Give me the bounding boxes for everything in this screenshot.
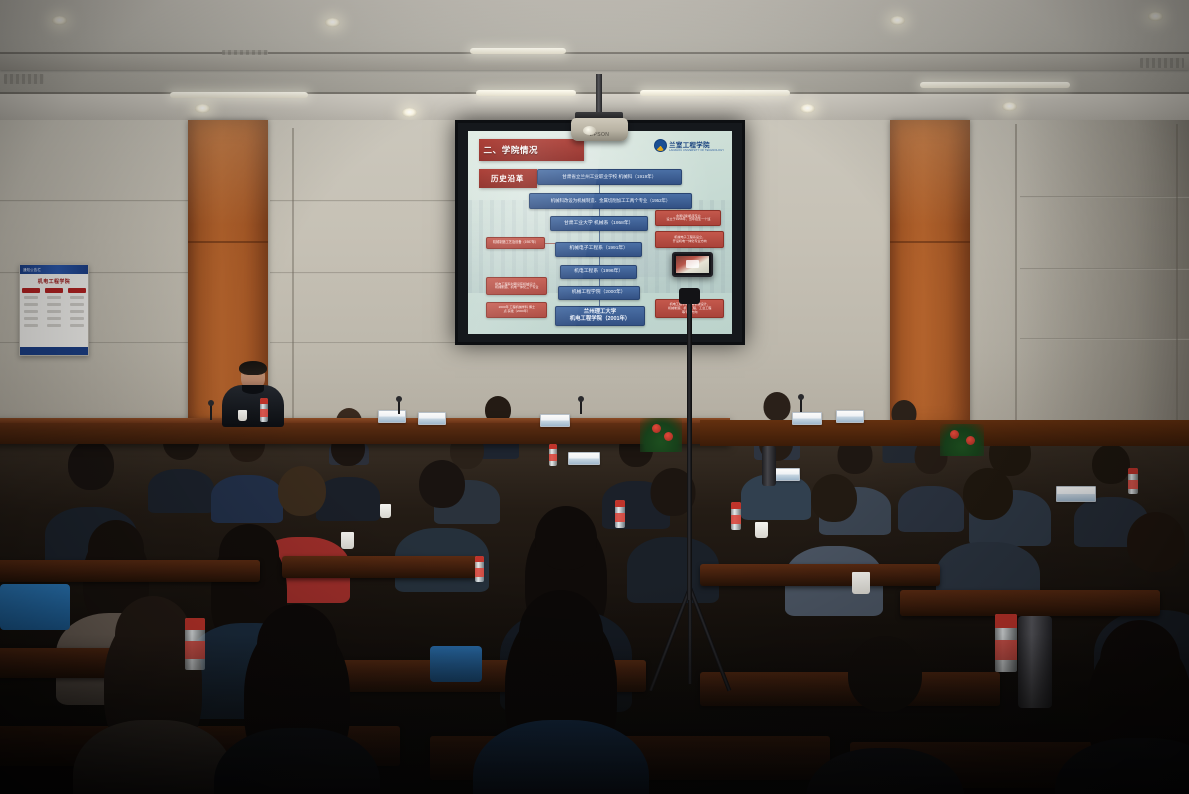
slide-section-title: 二、学院情况 [484,144,539,156]
ceiling-downlight [800,104,815,113]
name-placard [540,414,570,427]
logo-text-block: 兰室工程学院 LANZHOU UNIVERSITY OF TECHNOLOGY [669,139,724,152]
paper-cup [755,522,768,538]
ceiling-vent [1140,58,1184,68]
slide-institution-logo: 兰室工程学院 LANZHOU UNIVERSITY OF TECHNOLOGY [654,139,724,152]
slide-annotation: 金属切削机床专业 设立于1958年，当年招生一个班 [655,210,721,226]
logo-subtitle: LANZHOU UNIVERSITY OF TECHNOLOGY [669,149,724,152]
notice-board-header: 通知公告栏 [20,265,88,274]
ceiling-downlight [402,108,417,117]
slide-annotation: 机械制造工艺及设备（1987年） [486,237,544,249]
conference-hall-photo: 通知公告栏 机电工程学院 [0,0,1189,794]
flow-node-label: 机械电子工程系（1991年） [569,246,628,252]
water-bottle [995,614,1017,672]
slide-annotation-label: 机电工程系时期设有机械设计、 机械制造、机电一体化三个专业 [495,283,538,291]
water-bottle [475,556,484,582]
wall-notice-board[interactable]: 通知公告栏 机电工程学院 [19,264,89,356]
ceiling-strip-light [920,82,1070,88]
decorative-plant [940,424,984,456]
university-emblem-icon [654,139,667,152]
notice-board-columns [20,288,88,331]
projector: EPSON [571,118,628,141]
table-microphone [580,400,582,414]
table-microphone [210,404,212,420]
flow-node-label: 甘肃省立兰州工业职业学校 机械科（1919年） [562,174,656,180]
notice-board-header-text: 通知公告栏 [23,267,41,272]
flow-node-label: 机械工程学院（2000年） [572,290,626,296]
name-placard [378,410,406,423]
tripod-head[interactable] [679,288,700,304]
seat-row [0,560,260,582]
ceiling-strip-light [170,92,308,98]
ceiling-vent [4,74,44,84]
slide-annotation: 机械电子工程系设立， 开设机电一体化专业方向 [655,231,724,247]
wall-groove [270,342,460,344]
name-placard [418,412,446,425]
slide-topic-tag: 历史沿革 [479,169,537,188]
seat-row [700,564,940,586]
smartphone-recording[interactable] [672,252,713,277]
wall-groove [1020,338,1189,340]
flow-node-current: 兰州理工大学 机电工程学院（2001年） [555,306,645,326]
flow-node-label: 机电工程系（1996年） [574,269,623,275]
flower [950,430,959,439]
ceiling-strip-light [470,48,566,54]
ceiling-downlight [1148,12,1163,21]
flow-node: 机械电子工程系（1991年） [555,242,642,257]
wall-seam [1015,124,1017,434]
flow-node: 机械科改设为机械制造、金属切削加工工两个专业（1952年） [529,193,693,209]
water-bottle [549,444,557,466]
seat-row [900,590,1160,616]
slide-annotation-label: 2000年 工程机械学科 博士 点 获批（2000年） [499,306,535,314]
notice-board-title: 机电工程学院 [20,278,88,285]
flow-node-label: 机械科改设为机械制造、金属切削加工工两个专业（1952年） [551,198,671,204]
paper-cup [238,410,247,421]
flower [652,424,661,433]
name-placard [836,410,864,423]
projector-mount-rod [596,74,602,116]
ceiling-downlight [890,16,905,25]
paper-cup [341,532,354,549]
name-placard [792,412,822,425]
ceiling-downlight [195,104,210,113]
seat-row [282,556,482,578]
notice-board-footer [20,347,88,355]
thermos-flask [762,446,776,486]
flow-node-label: 兰州理工大学 机电工程学院（2001年） [570,309,631,323]
slide-annotation-label: 机械电子工程系设立， 开设机电一体化专业方向 [673,236,707,244]
audience-member [398,460,486,570]
audience-member [218,604,376,794]
water-bottle [615,500,625,528]
slide-section-title-bar: 二、学院情况 [479,139,585,161]
table-microphone [800,398,802,412]
name-placard [1056,486,1096,502]
water-bottle [185,618,205,670]
logo-name: 兰室工程学院 [669,139,724,149]
name-placard [568,452,600,465]
wall-shadow-right [1009,120,1189,450]
presenter-collar [242,385,264,394]
wall-groove [0,200,200,202]
slide-annotation-label: 机械制造工艺及设备（1987年） [493,241,538,245]
flower [966,436,975,445]
wall-pilaster-right [890,120,970,430]
decorative-plant [640,418,682,452]
slide-topic-tag-label: 历史沿革 [491,173,524,184]
thermos-flask [1018,616,1052,708]
notice-board-column [22,288,40,331]
water-bottle [260,398,268,422]
ceiling-downlight [1002,102,1017,111]
presenter [222,363,284,425]
slide-annotation: 机电工程系时期设有机械设计、 机械制造、机电一体化三个专业 [486,277,547,295]
smartphone-screen [676,256,709,273]
wall-groove [1020,268,1189,270]
ceiling-strip-light [476,90,576,96]
slide-annotation-label: 金属切削机床专业 设立于1958年，当年招生一个班 [666,215,710,223]
ceiling-downlight [52,16,67,25]
notice-board-column [45,288,63,331]
flower [664,432,673,441]
notice-board-column [68,288,86,331]
audience-member [78,596,228,794]
tripod-pole[interactable] [687,300,692,600]
blue-bag [0,584,70,630]
flow-node: 甘肃省立兰州工业职业学校 机械科（1919年） [537,169,682,185]
wall-groove [270,200,460,202]
ceiling-downlight [325,18,340,27]
audience-member [1060,620,1189,794]
head-table [0,418,730,444]
wall-groove [270,272,460,274]
ceiling-strip-light [640,90,790,96]
audience-member [810,636,960,794]
blue-bag [430,646,482,682]
wall-groove [1020,196,1189,198]
water-bottle [731,502,741,530]
flow-node: 甘肃工业大学 机械系（1958年） [550,216,648,231]
audience-member [478,590,644,794]
projector-lens [583,126,596,135]
paper-cup [380,504,391,518]
flow-node: 机电工程系（1996年） [560,265,637,279]
water-bottle [1128,468,1138,494]
audience-member [940,468,1036,588]
annotation-connector [545,243,556,244]
flow-node-label: 甘肃工业大学 机械系（1958年） [564,221,634,227]
ceiling-vent [222,50,268,55]
tripod-leg [688,588,692,684]
flow-node: 机械工程学院（2000年） [558,286,640,300]
table-microphone [398,400,400,414]
projection-screen-frame: 二、学院情况 兰室工程学院 LANZHOU UNIVERSITY OF TECH… [455,120,745,345]
wall-seam [292,128,294,428]
slide-annotation: 2000年 工程机械学科 博士 点 获批（2000年） [486,302,547,318]
presenter-hair [239,361,267,375]
paper-cup [852,572,870,594]
wall-seam [1176,124,1178,434]
